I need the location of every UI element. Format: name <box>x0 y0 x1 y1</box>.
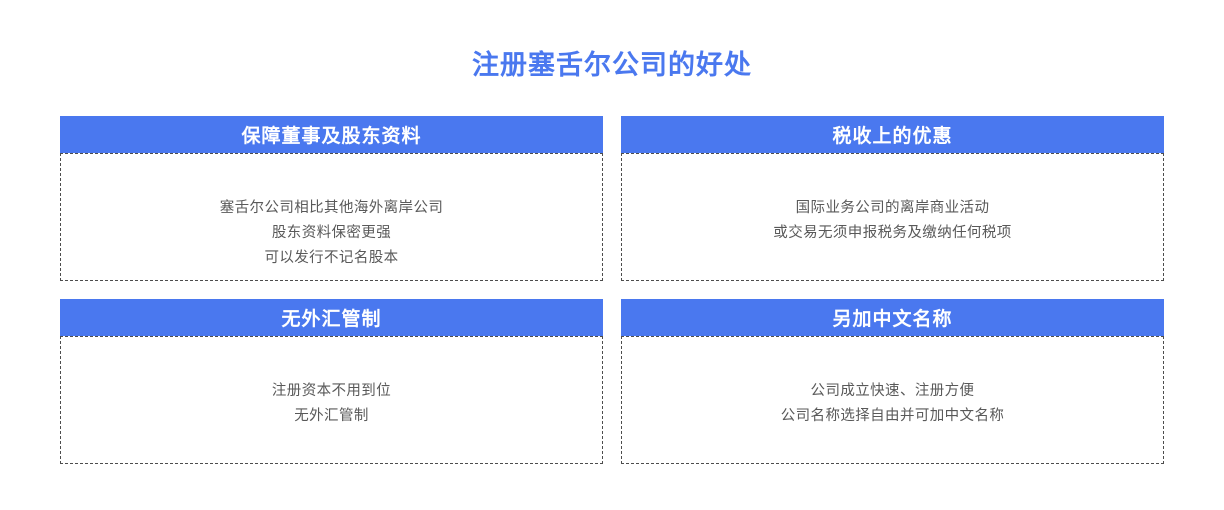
benefit-card-2-header: 税收上的优惠 <box>621 116 1164 153</box>
benefit-card-3: 无外汇管制 注册资本不用到位 无外汇管制 <box>60 299 603 464</box>
benefit-card-1-header: 保障董事及股东资料 <box>60 116 603 153</box>
benefit-card-4-body: 公司成立快速、注册方便 公司名称选择自由并可加中文名称 <box>621 336 1164 464</box>
infographic-page: 注册塞舌尔公司的好处 保障董事及股东资料 塞舌尔公司相比其他海外离岸公司 股东资… <box>0 0 1224 510</box>
benefit-card-1-body: 塞舌尔公司相比其他海外离岸公司 股东资料保密更强 可以发行不记名股本 <box>60 153 603 281</box>
benefit-card-4-line-2: 公司名称选择自由并可加中文名称 <box>781 404 1005 429</box>
benefit-card-2-line-1: 国际业务公司的离岸商业活动 <box>796 196 990 221</box>
benefit-card-3-header: 无外汇管制 <box>60 299 603 336</box>
benefit-card-1-line-3: 可以发行不记名股本 <box>264 246 398 271</box>
benefit-card-2: 税收上的优惠 国际业务公司的离岸商业活动 或交易无须申报税务及缴纳任何税项 <box>621 116 1164 281</box>
benefit-card-3-line-1: 注册资本不用到位 <box>272 379 391 404</box>
benefit-card-2-line-2: 或交易无须申报税务及缴纳任何税项 <box>773 221 1011 246</box>
benefit-card-2-body: 国际业务公司的离岸商业活动 或交易无须申报税务及缴纳任何税项 <box>621 153 1164 281</box>
benefit-card-4: 另加中文名称 公司成立快速、注册方便 公司名称选择自由并可加中文名称 <box>621 299 1164 464</box>
page-title: 注册塞舌尔公司的好处 <box>0 48 1224 82</box>
benefit-card-3-line-2: 无外汇管制 <box>294 404 369 429</box>
benefit-card-3-body: 注册资本不用到位 无外汇管制 <box>60 336 603 464</box>
benefit-card-1-line-2: 股东资料保密更强 <box>272 221 391 246</box>
benefit-card-1: 保障董事及股东资料 塞舌尔公司相比其他海外离岸公司 股东资料保密更强 可以发行不… <box>60 116 603 281</box>
benefit-card-grid: 保障董事及股东资料 塞舌尔公司相比其他海外离岸公司 股东资料保密更强 可以发行不… <box>60 116 1164 464</box>
benefit-card-1-line-1: 塞舌尔公司相比其他海外离岸公司 <box>220 196 444 221</box>
benefit-card-4-header: 另加中文名称 <box>621 299 1164 336</box>
benefit-card-4-line-1: 公司成立快速、注册方便 <box>811 379 975 404</box>
